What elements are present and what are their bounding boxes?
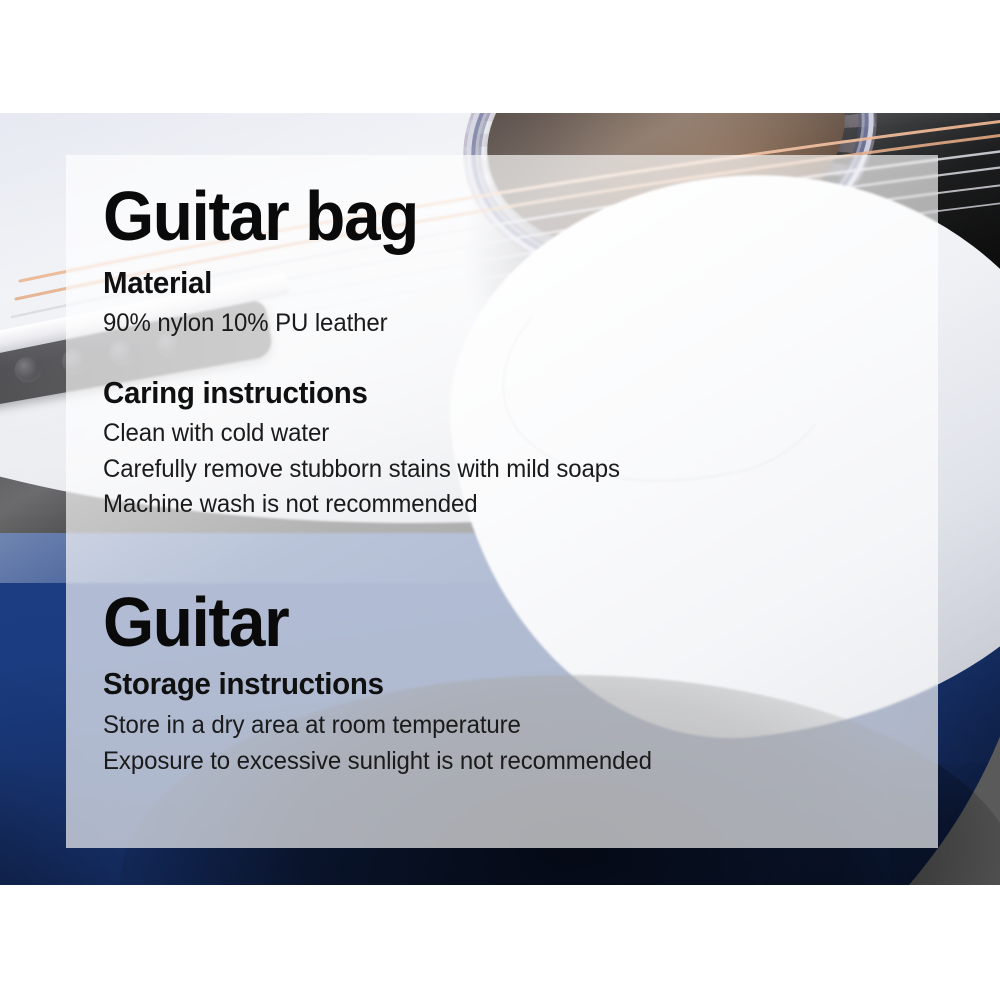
info-overlay-panel: Guitar bag Material 90% nylon 10% PU lea… — [66, 155, 938, 848]
heading-caring-instructions: Caring instructions — [103, 376, 868, 411]
material-line-1: 90% nylon 10% PU leather — [103, 306, 876, 342]
storage-line-1: Store in a dry area at room temperature — [103, 708, 876, 744]
heading-material: Material — [103, 266, 868, 301]
product-info-card: Guitar bag Material 90% nylon 10% PU lea… — [0, 0, 1000, 1000]
heading-storage-instructions: Storage instructions — [103, 667, 868, 702]
caring-line-1: Clean with cold water — [103, 416, 876, 452]
caring-line-2: Carefully remove stubborn stains with mi… — [103, 452, 876, 488]
section-title-guitar: Guitar — [103, 589, 860, 656]
storage-line-2: Exposure to excessive sunlight is not re… — [103, 744, 876, 780]
caring-line-3: Machine wash is not recommended — [103, 487, 876, 523]
guitar-product-photo: Guitar bag Material 90% nylon 10% PU lea… — [0, 113, 1000, 885]
section-title-guitar-bag: Guitar bag — [103, 183, 860, 250]
